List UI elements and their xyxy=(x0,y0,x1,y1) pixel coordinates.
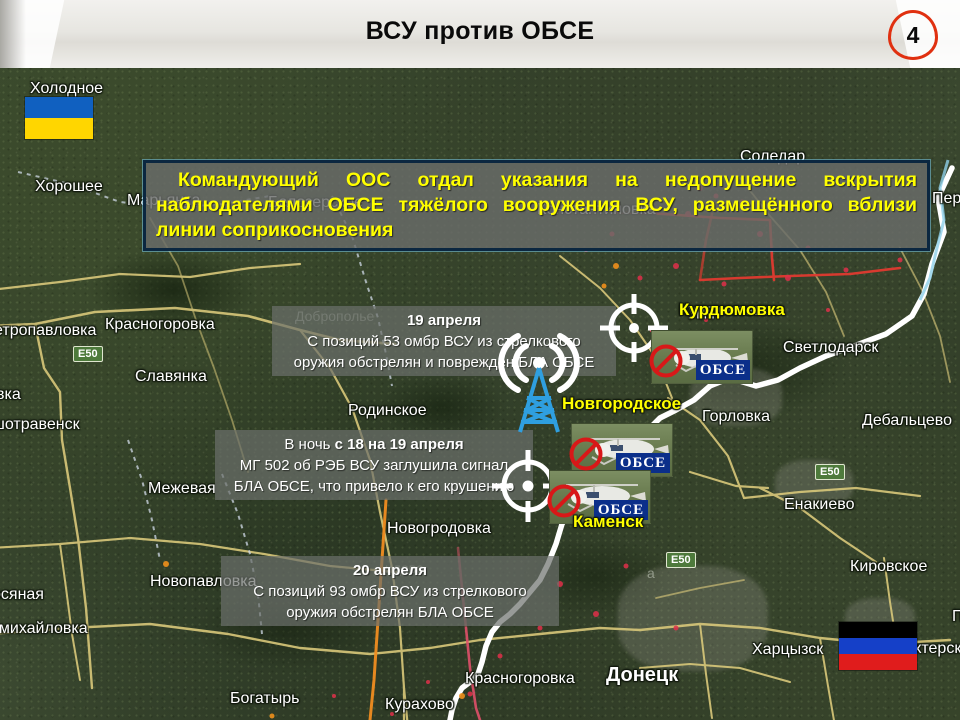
page-title: ВСУ против ОБСЕ xyxy=(0,0,960,62)
event-body-20-april: С позиций 93 омбр ВСУ из стрелкового ору… xyxy=(230,581,550,623)
event-date-value: с 18 на 19 апреля xyxy=(335,436,464,453)
road-shield: E50 xyxy=(666,552,696,568)
slide: ВСУ против ОБСЕ 4 xyxy=(0,0,960,720)
prohibition-icon-novgorodskoe xyxy=(568,436,604,472)
road-shield: E50 xyxy=(815,464,845,480)
event-date-lead: В ночь xyxy=(284,436,334,453)
event-date-value: 20 апреля xyxy=(353,562,427,579)
ukraine-flag xyxy=(24,96,94,140)
event-date-night-18-19-april: В ночь с 18 на 19 апреля xyxy=(224,434,524,455)
prohibition-icon-kamensk xyxy=(546,483,582,519)
event-body-night-18-19-april: МГ 502 об РЭБ ВСУ заглушила сигнал БЛА О… xyxy=(224,455,524,497)
road-shield: E50 xyxy=(73,346,103,362)
osce-label: ОБСЕ xyxy=(696,360,750,380)
event-date-value: 19 апреля xyxy=(407,312,481,329)
event-box-20-april: 20 апреля С позиций 93 омбр ВСУ из стрел… xyxy=(221,556,559,626)
slide-header: ВСУ против ОБСЕ 4 xyxy=(0,0,960,68)
event-date-20-april: 20 апреля xyxy=(230,560,550,581)
page-number-badge: 4 xyxy=(888,10,938,60)
prohibition-icon-kurdyumovka xyxy=(648,343,684,379)
dpr-flag xyxy=(838,621,918,671)
command-directive-banner: Командующий ООС отдал указания на недопу… xyxy=(143,160,930,251)
jammer-tower-icon-novgorodskoe xyxy=(496,332,582,438)
event-box-night-18-19-april: В ночь с 18 на 19 апреля МГ 502 об РЭБ В… xyxy=(215,430,533,500)
map-canvas[interactable]: ХолодноеХорошееМарьянкаБелозерскоеКонста… xyxy=(0,68,960,720)
banner-text: Командующий ООС отдал указания на недопу… xyxy=(156,168,917,243)
osce-label: ОБСЕ xyxy=(594,500,648,520)
event-date-19-april: 19 апреля xyxy=(281,310,607,331)
